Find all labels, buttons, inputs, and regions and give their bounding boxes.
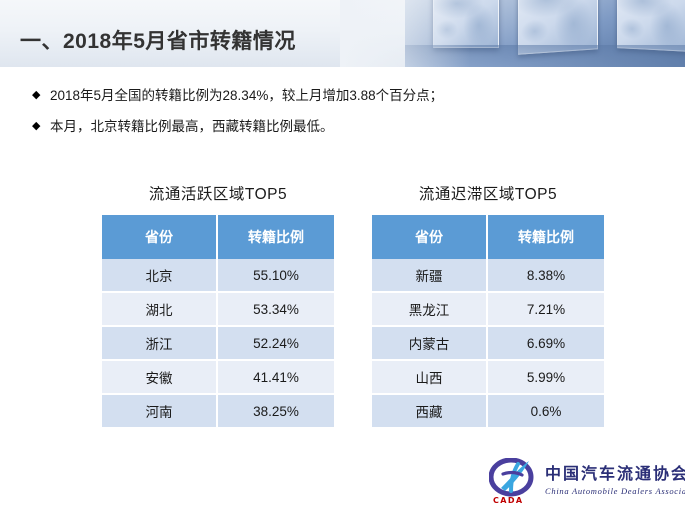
cell-ratio: 5.99% xyxy=(488,361,604,395)
bullet-text: 2018年5月全国的转籍比例为28.34%，较上月增加3.88个百分点； xyxy=(50,86,632,106)
cell-ratio: 52.24% xyxy=(218,327,334,361)
bullet-list: ◆ 2018年5月全国的转籍比例为28.34%，较上月增加3.88个百分点； ◆… xyxy=(32,86,632,147)
cell-province: 湖北 xyxy=(102,293,218,327)
bullet-text: 本月，北京转籍比例最高，西藏转籍比例最低。 xyxy=(50,117,632,137)
table-header-row: 省份 转籍比例 xyxy=(102,215,334,259)
cell-province: 西藏 xyxy=(372,395,488,427)
cell-province: 浙江 xyxy=(102,327,218,361)
cell-ratio: 41.41% xyxy=(218,361,334,395)
cell-province: 北京 xyxy=(102,259,218,293)
slide-header: 一、2018年5月省市转籍情况 xyxy=(0,0,685,67)
page-title: 一、2018年5月省市转籍情况 xyxy=(20,25,296,55)
table-row: 山西 5.99% xyxy=(372,361,604,395)
cell-ratio: 7.21% xyxy=(488,293,604,327)
table-header-row: 省份 转籍比例 xyxy=(372,215,604,259)
cell-province: 山西 xyxy=(372,361,488,395)
header-gradient-fade xyxy=(340,0,470,67)
table-title: 流通活跃区域TOP5 xyxy=(102,182,334,204)
table-row: 西藏 0.6% xyxy=(372,395,604,427)
column-header-province: 省份 xyxy=(372,215,488,259)
cell-ratio: 55.10% xyxy=(218,259,334,293)
cada-emblem-icon: CADA xyxy=(489,458,541,504)
table-title: 流通迟滞区域TOP5 xyxy=(372,182,604,204)
column-header-ratio: 转籍比例 xyxy=(218,215,334,259)
cell-province: 安徽 xyxy=(102,361,218,395)
cell-province: 新疆 xyxy=(372,259,488,293)
table-row: 浙江 52.24% xyxy=(102,327,334,361)
table-row: 河南 38.25% xyxy=(102,395,334,427)
logo-name-english: China Automobile Dealers Association xyxy=(545,486,685,496)
diamond-bullet-icon: ◆ xyxy=(32,86,50,104)
cell-ratio: 53.34% xyxy=(218,293,334,327)
table-block-active-regions: 流通活跃区域TOP5 省份 转籍比例 北京 55.10% 湖北 53.34% 浙… xyxy=(102,182,334,427)
table-row: 内蒙古 6.69% xyxy=(372,327,604,361)
table-row: 湖北 53.34% xyxy=(102,293,334,327)
cell-province: 黑龙江 xyxy=(372,293,488,327)
bullet-item: ◆ 2018年5月全国的转籍比例为28.34%，较上月增加3.88个百分点； xyxy=(32,86,632,106)
column-header-ratio: 转籍比例 xyxy=(488,215,604,259)
table-row: 新疆 8.38% xyxy=(372,259,604,293)
cell-province: 内蒙古 xyxy=(372,327,488,361)
table-block-lagging-regions: 流通迟滞区域TOP5 省份 转籍比例 新疆 8.38% 黑龙江 7.21% 内蒙… xyxy=(372,182,604,427)
logo-name-chinese: 中国汽车流通协会 xyxy=(545,466,685,484)
lagging-regions-table: 省份 转籍比例 新疆 8.38% 黑龙江 7.21% 内蒙古 6.69% 山西 … xyxy=(372,215,604,427)
bullet-item: ◆ 本月，北京转籍比例最高，西藏转籍比例最低。 xyxy=(32,117,632,137)
cell-ratio: 6.69% xyxy=(488,327,604,361)
cell-ratio: 8.38% xyxy=(488,259,604,293)
column-header-province: 省份 xyxy=(102,215,218,259)
table-row: 黑龙江 7.21% xyxy=(372,293,604,327)
cell-ratio: 38.25% xyxy=(218,395,334,427)
diamond-bullet-icon: ◆ xyxy=(32,117,50,135)
table-row: 安徽 41.41% xyxy=(102,361,334,395)
active-regions-table: 省份 转籍比例 北京 55.10% 湖北 53.34% 浙江 52.24% 安徽… xyxy=(102,215,334,427)
organization-logo: CADA 中国汽车流通协会 China Automobile Dealers A… xyxy=(489,456,679,506)
logo-text: 中国汽车流通协会 China Automobile Dealers Associ… xyxy=(545,466,685,496)
table-row: 北京 55.10% xyxy=(102,259,334,293)
logo-abbreviation: CADA xyxy=(493,496,524,505)
cell-province: 河南 xyxy=(102,395,218,427)
cell-ratio: 0.6% xyxy=(488,395,604,427)
